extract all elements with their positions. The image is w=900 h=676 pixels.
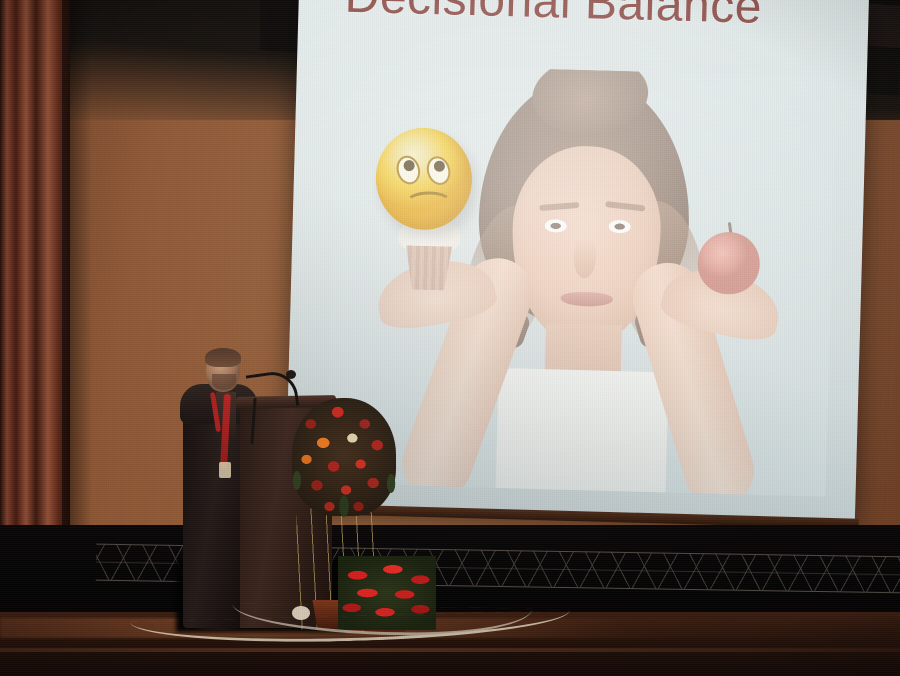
bouquet-foliage xyxy=(282,450,406,526)
slide-photo xyxy=(326,63,837,496)
sad-face-eye-left xyxy=(393,153,423,187)
stage-floor-edge xyxy=(0,648,900,652)
apple-icon xyxy=(697,231,761,295)
microphone-capsule-icon xyxy=(286,370,296,379)
speaker-hair xyxy=(205,348,241,367)
floor-cable-tie xyxy=(292,606,310,620)
speaker-beard xyxy=(212,374,236,390)
presentation-photo-scene: Decisional Balance xyxy=(0,0,900,676)
flower-bouquet xyxy=(292,398,396,516)
sad-face-eye-right xyxy=(423,153,453,187)
woman-white-top xyxy=(495,368,668,497)
slide-title: Decisional Balance xyxy=(344,0,835,35)
woman-eye-right xyxy=(609,220,631,234)
sad-face-pupil-left xyxy=(402,159,416,173)
speaker-badge xyxy=(219,462,231,478)
sad-face-frown xyxy=(405,191,453,215)
sad-face-pupil-right xyxy=(433,159,447,173)
curtain-shadow xyxy=(62,0,92,600)
woman-eye-left xyxy=(545,219,567,233)
